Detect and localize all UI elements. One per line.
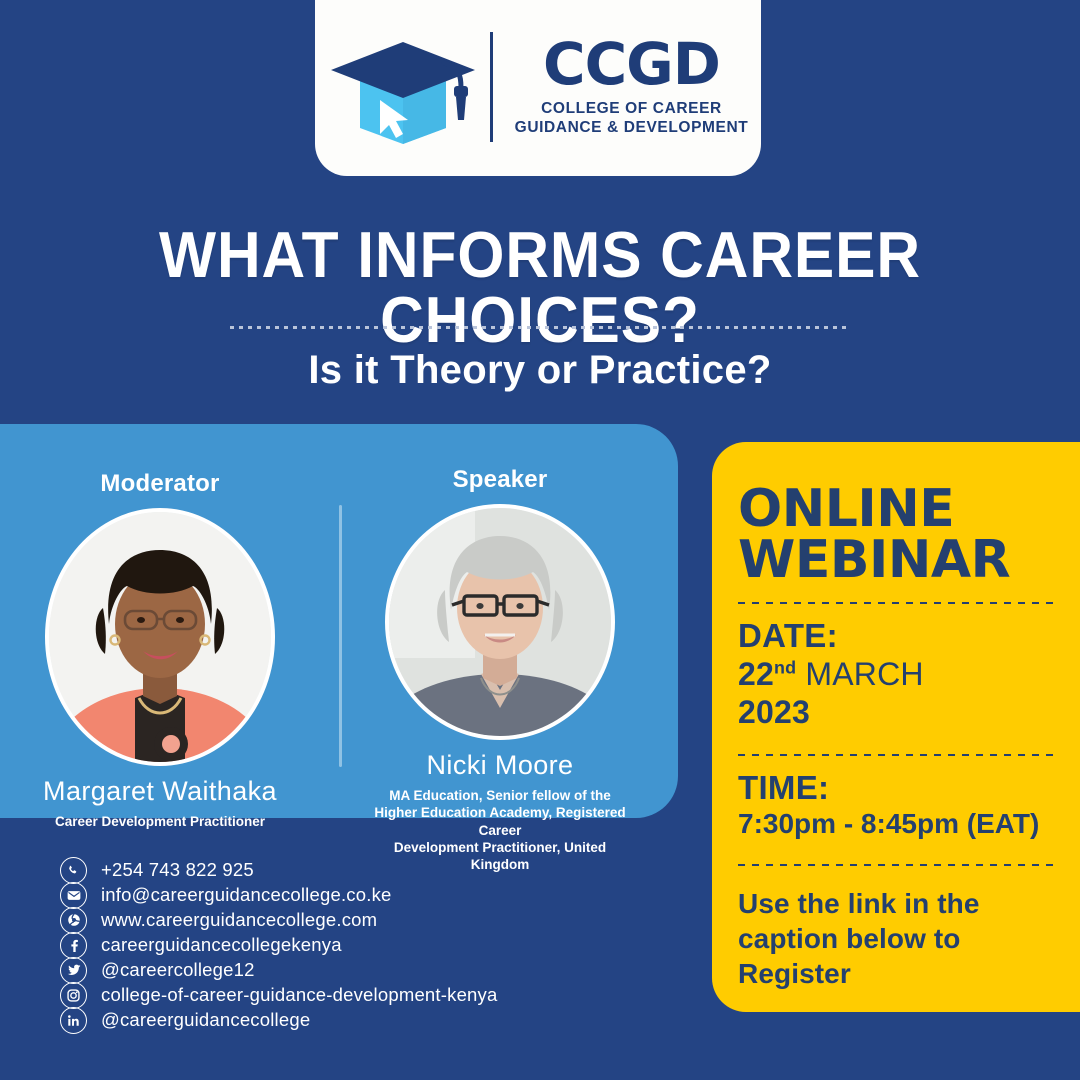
time-value: 7:30pm - 8:45pm (EAT) bbox=[738, 807, 1054, 841]
twitter-icon bbox=[60, 957, 87, 984]
contact-text: +254 743 822 925 bbox=[101, 859, 254, 881]
contact-row-instagram[interactable]: college-of-career-guidance-development-k… bbox=[60, 983, 498, 1008]
contact-row-email[interactable]: info@careerguidancecollege.co.ke bbox=[60, 883, 498, 908]
logo-name-line1: COLLEGE OF CAREER bbox=[515, 99, 749, 118]
instagram-icon bbox=[60, 982, 87, 1009]
contact-text: college-of-career-guidance-development-k… bbox=[101, 984, 498, 1006]
contact-text: @careerguidancecollege bbox=[101, 1009, 310, 1031]
brand-logo-card: CCGD COLLEGE OF CAREER GUIDANCE & DEVELO… bbox=[315, 0, 761, 176]
person-card-speaker: Speaker bbox=[370, 466, 630, 873]
date-ordinal: nd bbox=[774, 657, 796, 677]
logo-divider bbox=[490, 32, 493, 142]
webinar-poster: CCGD COLLEGE OF CAREER GUIDANCE & DEVELO… bbox=[0, 0, 1080, 1080]
info-title-line2: WEBINAR bbox=[738, 535, 1054, 586]
contact-row-website[interactable]: www.careerguidancecollege.com bbox=[60, 908, 498, 933]
logo-acronym: CCGD bbox=[543, 37, 720, 92]
title-divider bbox=[230, 326, 850, 329]
phone-icon bbox=[60, 857, 87, 884]
date-value: 22nd MARCH bbox=[738, 655, 1054, 693]
contact-row-facebook[interactable]: careerguidancecollegekenya bbox=[60, 933, 498, 958]
contact-list: +254 743 822 925 info@careerguidancecoll… bbox=[60, 858, 498, 1033]
person-name: Margaret Waithaka bbox=[30, 776, 290, 807]
speaker-portrait bbox=[385, 504, 615, 740]
webinar-info-box: ONLINE WEBINAR DATE: 22nd MARCH 2023 TIM… bbox=[712, 442, 1080, 1012]
contact-row-phone[interactable]: +254 743 822 925 bbox=[60, 858, 498, 883]
date-day: 22 bbox=[738, 656, 774, 692]
contact-text: www.careerguidancecollege.com bbox=[101, 909, 377, 931]
page-subtitle: Is it Theory or Practice? bbox=[0, 348, 1080, 392]
person-role: Speaker bbox=[370, 466, 630, 494]
person-role: Moderator bbox=[30, 470, 290, 498]
facebook-icon bbox=[60, 932, 87, 959]
page-title: WHAT INFORMS CAREER CHOICES? bbox=[38, 222, 1042, 352]
contact-row-linkedin[interactable]: @careerguidancecollege bbox=[60, 1008, 498, 1033]
linkedin-icon bbox=[60, 1007, 87, 1034]
contact-row-twitter[interactable]: @careercollege12 bbox=[60, 958, 498, 983]
contact-text: info@careerguidancecollege.co.ke bbox=[101, 884, 392, 906]
person-name: Nicki Moore bbox=[370, 750, 630, 781]
graduation-cap-with-cursor-icon bbox=[328, 32, 478, 142]
date-year: 2023 bbox=[738, 693, 1054, 731]
contact-text: careerguidancecollegekenya bbox=[101, 934, 342, 956]
info-title-line1: ONLINE bbox=[738, 484, 1054, 535]
contact-text: @careercollege12 bbox=[101, 959, 255, 981]
date-month: MARCH bbox=[805, 656, 923, 692]
info-divider-1 bbox=[738, 602, 1054, 604]
register-cta: Use the link in the caption below to Reg… bbox=[738, 886, 1054, 991]
email-icon bbox=[60, 882, 87, 909]
logo-name-line2: GUIDANCE & DEVELOPMENT bbox=[515, 118, 749, 137]
person-card-moderator: Moderator bbox=[30, 470, 290, 830]
speakers-divider bbox=[339, 505, 342, 767]
time-label: TIME: bbox=[738, 770, 1054, 807]
moderator-portrait bbox=[45, 508, 275, 766]
date-label: DATE: bbox=[738, 618, 1054, 655]
website-icon bbox=[60, 907, 87, 934]
info-divider-3 bbox=[738, 864, 1054, 866]
info-divider-2 bbox=[738, 754, 1054, 756]
person-title: Career Development Practitioner bbox=[30, 813, 290, 830]
